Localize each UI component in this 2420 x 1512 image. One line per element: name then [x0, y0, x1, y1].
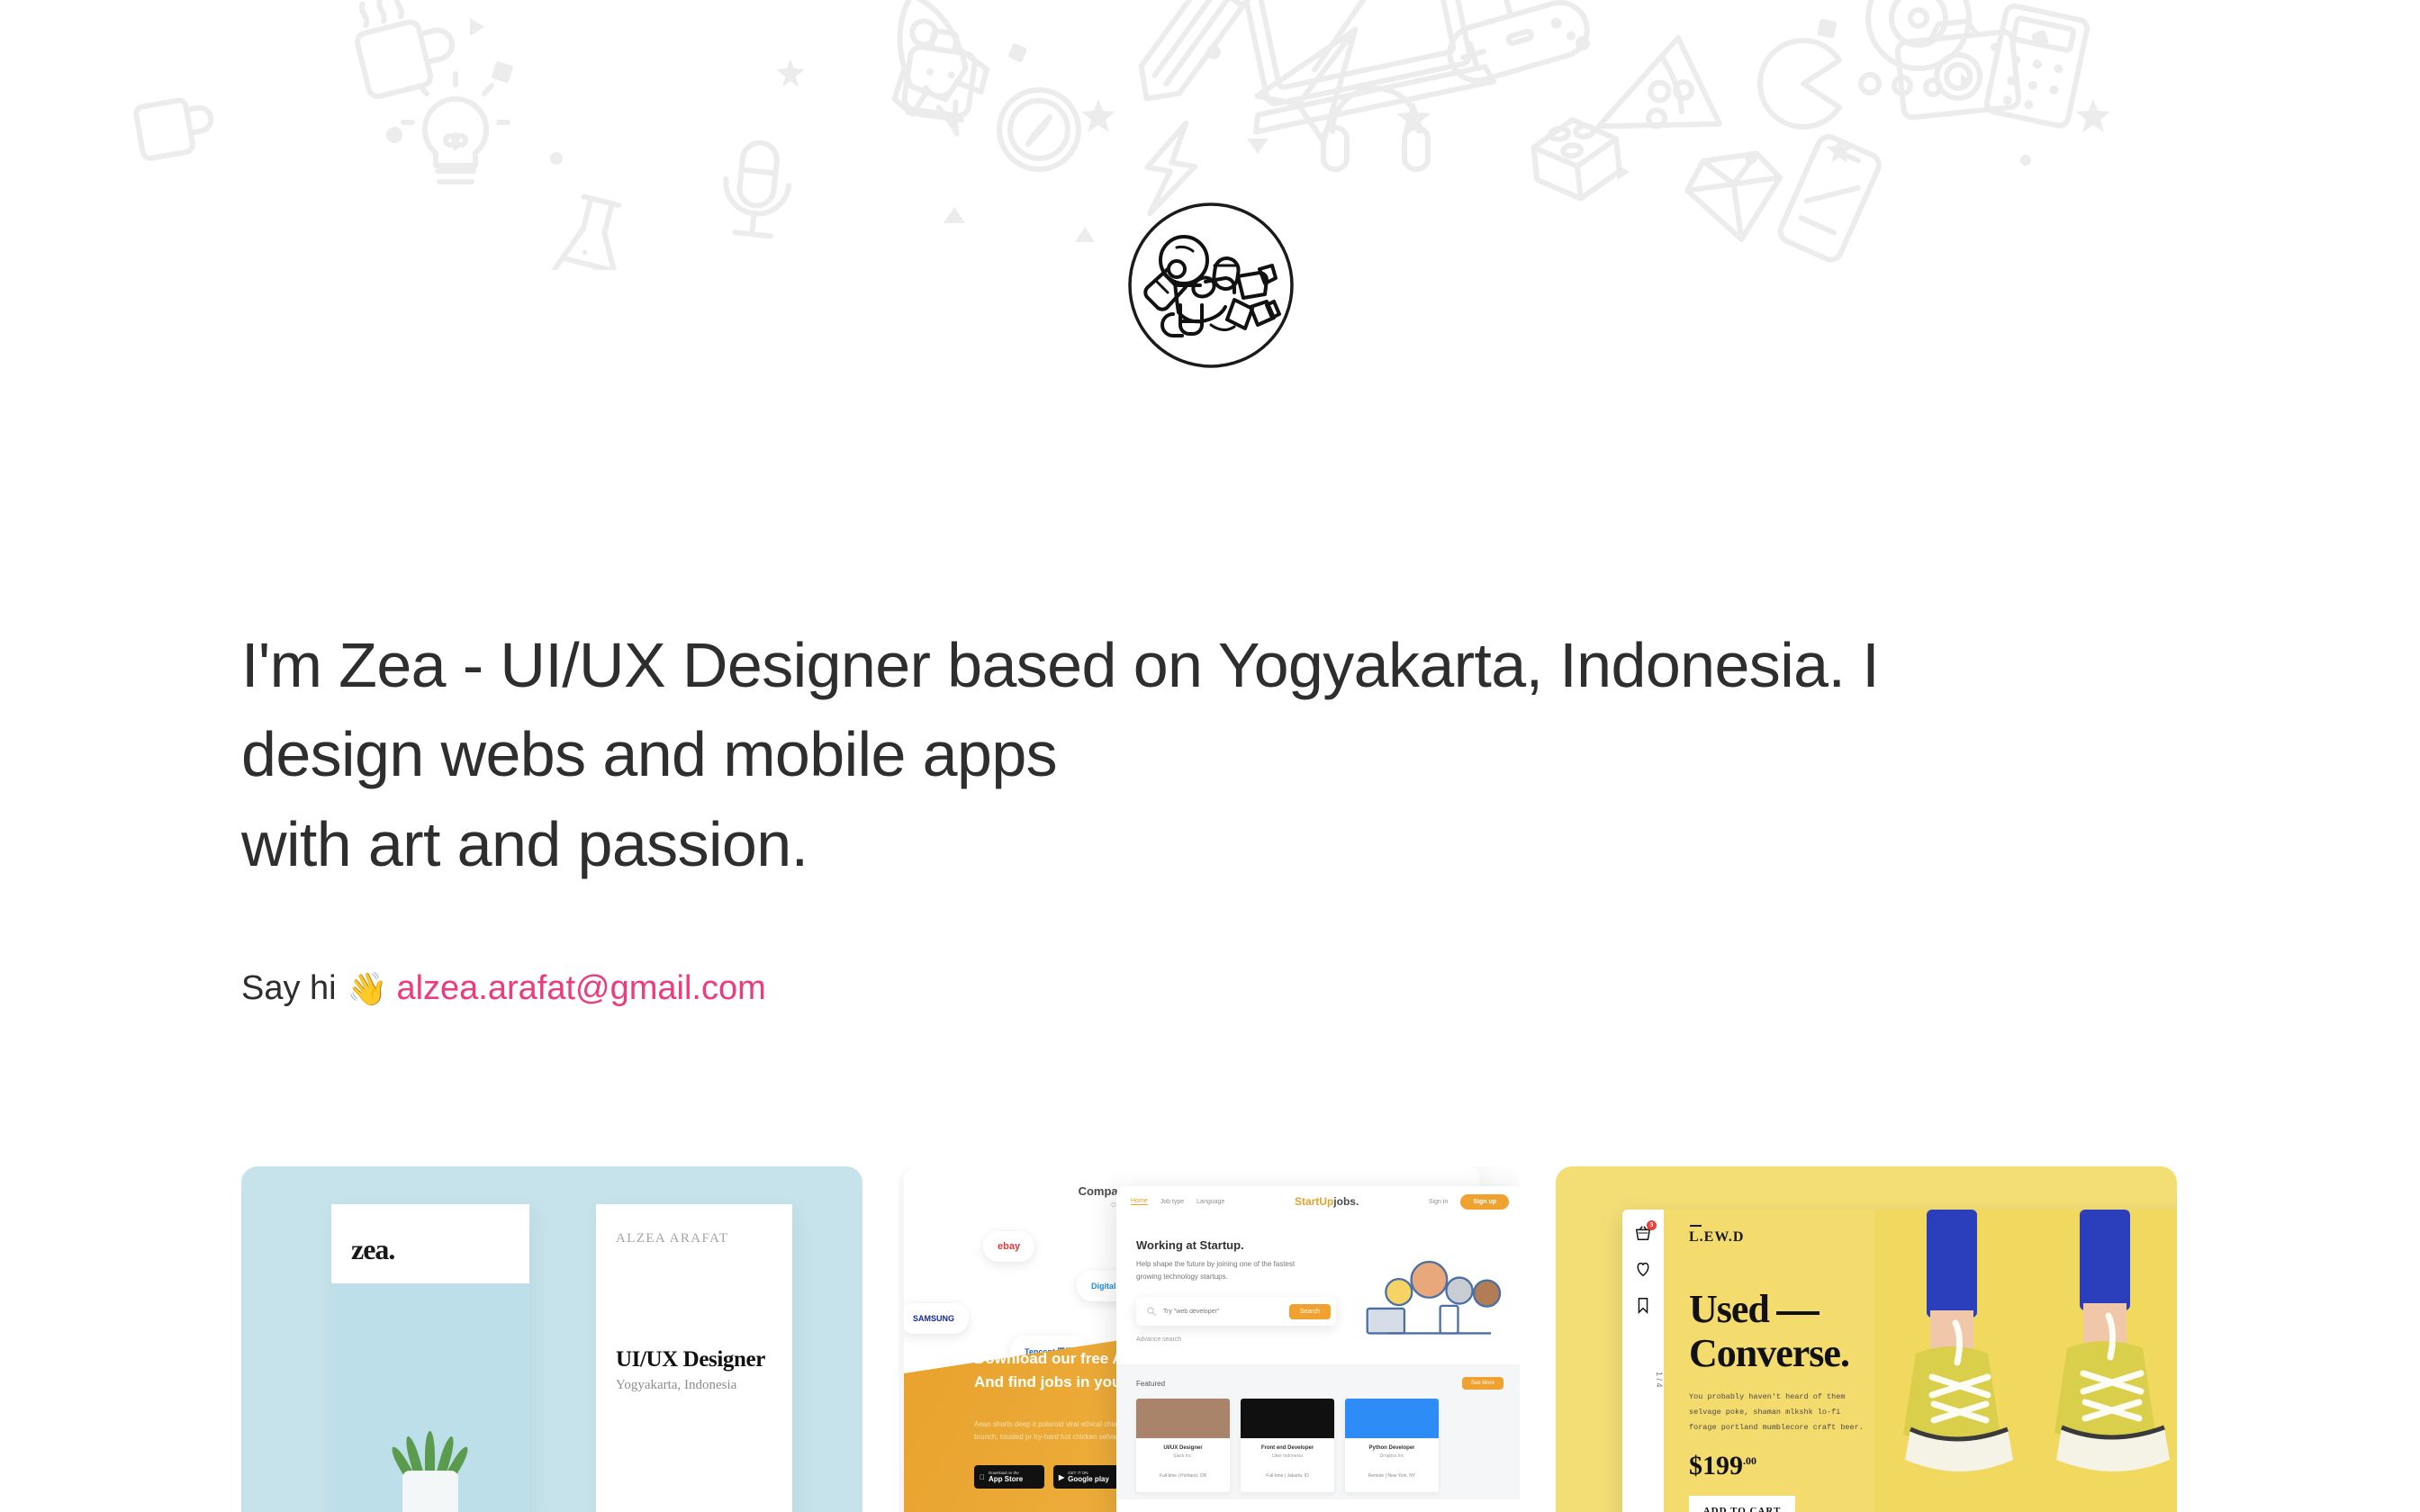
- job-card[interactable]: Front end Developer Uber Indonesia Full-…: [1241, 1399, 1334, 1492]
- job-card[interactable]: UI/UX Designer Slack Inc. Full-time | Po…: [1136, 1399, 1230, 1492]
- branding-project-card[interactable]: zea. ALZEA ARAFAT: [241, 1166, 862, 1512]
- star-icon: [776, 58, 805, 87]
- dot-icon: [550, 152, 563, 165]
- store-badge-group:  Download on the App Store ▶ GET IT ON …: [974, 1465, 1124, 1489]
- price-cents: .00: [1743, 1454, 1756, 1467]
- product-description: You probably haven't heard of them selva…: [1689, 1390, 1869, 1435]
- product-title-word1: Used: [1689, 1287, 1769, 1331]
- triangle-icon: [1961, 74, 1973, 90]
- paper-plane-icon: [1251, 30, 1367, 148]
- dot-icon: [1576, 36, 1590, 50]
- job-meta: Full-time | Jakarta, ID: [1241, 1473, 1334, 1479]
- smartphone-icon: [1777, 133, 1883, 263]
- job-search-input[interactable]: [1163, 1309, 1282, 1315]
- app-store-badge[interactable]:  Download on the App Store: [974, 1465, 1044, 1489]
- featured-label: Featured: [1136, 1380, 1165, 1388]
- rocket-icon: [865, 0, 1003, 148]
- site-navbar: Home Job type Language StartUpjobs. Sign…: [1116, 1186, 1520, 1217]
- play-icon: ▶: [1059, 1473, 1064, 1481]
- pacman-icon: [1760, 40, 1940, 127]
- dot-icon: [386, 127, 402, 143]
- plant-pot: [402, 1471, 458, 1512]
- dot-icon: [1745, 151, 1757, 164]
- microphone-icon: [720, 139, 792, 238]
- portfolio-page: I'm Zea - UI/UX Designer based on Yogyak…: [0, 0, 2420, 1512]
- vinyl-record-icon: [1868, 0, 1969, 68]
- business-card-role: UI/UX Designer: [616, 1347, 772, 1372]
- contact-prefix: Say hi: [241, 967, 337, 1011]
- site-hero-body: Help shape the future by joining one of …: [1136, 1258, 1316, 1282]
- google-play-badge-pre: GET IT ON: [1068, 1471, 1109, 1475]
- job-title: Python Developer: [1345, 1445, 1439, 1451]
- add-to-cart-button[interactable]: ADD TO CART: [1689, 1496, 1795, 1512]
- bookmark-icon[interactable]: [1634, 1296, 1652, 1314]
- sign-up-button[interactable]: Sign up: [1460, 1194, 1509, 1210]
- job-search-bar[interactable]: Search: [1136, 1297, 1336, 1326]
- shop-page-mockup: 3 1 / 4 L.E: [1622, 1210, 2177, 1512]
- business-card-location: Yogyakarta, Indonesia: [616, 1378, 772, 1393]
- site-brand-part-a: StartUp: [1295, 1195, 1333, 1208]
- square-icon: [1007, 42, 1027, 62]
- job-company: Dropbox Inc: [1345, 1453, 1439, 1459]
- zea-wordmark: zea.: [351, 1233, 394, 1266]
- featured-jobs-section: Featured See More UI/UX Designer Slack I…: [1116, 1364, 1520, 1499]
- jobs-platform-project-card[interactable]: Companies we are helped in hiring talent…: [898, 1166, 1520, 1512]
- ecommerce-project-card[interactable]: 3 1 / 4 L.E: [1556, 1166, 2177, 1512]
- featured-job-row: UI/UX Designer Slack Inc. Full-time | Po…: [1136, 1399, 1503, 1492]
- dot-icon: [1206, 45, 1221, 59]
- business-card-mockup: ALZEA ARAFAT UI/UX Designer Yogyakarta, …: [596, 1204, 792, 1512]
- job-thumbnail: [1136, 1399, 1230, 1438]
- diamond-icon: [1684, 151, 1788, 247]
- project-card-list: zea. ALZEA ARAFAT: [241, 1166, 2179, 1512]
- pizza-icon: [1599, 27, 1733, 147]
- calculator-icon: [1985, 4, 2089, 128]
- succulent-plant-icon: [389, 1418, 472, 1512]
- lego-head-icon: [902, 28, 978, 121]
- title-dash: [1776, 1311, 1820, 1315]
- nav-item-job-type[interactable]: Job type: [1160, 1199, 1184, 1205]
- lego-brick-icon: [1531, 115, 1622, 202]
- job-search-button[interactable]: Search: [1289, 1304, 1331, 1319]
- dot-icon: [2020, 155, 2031, 166]
- shop-pager: 1 / 4: [1622, 1372, 1664, 1388]
- hero-title-line-2: with art and passion.: [241, 800, 2033, 889]
- contact-line: Say hi 👋 alzea.arafat@gmail.com: [241, 967, 2132, 1011]
- job-meta: Remote | New York, NY: [1345, 1473, 1439, 1479]
- team-illustration: [1358, 1255, 1509, 1345]
- brand-logo-mockup: zea.: [331, 1204, 529, 1512]
- apple-icon: : [980, 1473, 985, 1481]
- coffee-mug-icon: [135, 95, 216, 159]
- featured-header: Featured See More: [1136, 1377, 1503, 1390]
- square-icon: [2031, 30, 2050, 49]
- gamepad-icon: [1434, 0, 1594, 87]
- headphones-icon: [1323, 88, 1428, 169]
- star-icon: [1081, 99, 1115, 132]
- star-icon: [2076, 99, 2110, 132]
- company-logo-samsung: SAMSUNG: [904, 1303, 969, 1334]
- shop-pager-label: 1 / 4: [1655, 1372, 1664, 1388]
- sign-in-link[interactable]: Sign in: [1429, 1199, 1448, 1205]
- triangle-icon: [1075, 227, 1095, 242]
- star-icon: [1396, 101, 1431, 134]
- job-card[interactable]: Python Developer Dropbox Inc Remote | Ne…: [1345, 1399, 1439, 1492]
- shop-brand-logo: L.EW.D: [1689, 1229, 1744, 1246]
- coffee-mug-icon: [348, 0, 460, 98]
- lightbulb-icon: [403, 74, 508, 182]
- site-hero-title: Working at Startup.: [1136, 1238, 1503, 1252]
- job-title: Front end Developer: [1241, 1445, 1334, 1451]
- google-play-badge-main: Google play: [1068, 1475, 1109, 1483]
- heart-icon[interactable]: [1634, 1260, 1652, 1278]
- square-icon: [491, 60, 513, 83]
- laptop-icon: [1224, 0, 1494, 132]
- triangle-icon: [944, 207, 965, 223]
- google-play-badge[interactable]: ▶ GET IT ON Google play: [1053, 1465, 1124, 1489]
- astronaut-logo[interactable]: [1124, 199, 1297, 372]
- star-icon: [1826, 137, 1853, 163]
- nav-item-language[interactable]: Language: [1196, 1199, 1224, 1205]
- plant-photo: [331, 1283, 529, 1512]
- search-icon: [1147, 1307, 1156, 1316]
- nav-item-home[interactable]: Home: [1131, 1198, 1148, 1205]
- job-thumbnail: [1241, 1399, 1334, 1438]
- pencil-icon: [1127, 0, 1253, 112]
- site-brand-logo: StartUpjobs.: [1295, 1195, 1359, 1208]
- job-title: UI/UX Designer: [1136, 1445, 1230, 1451]
- see-more-button[interactable]: See More: [1462, 1377, 1503, 1390]
- company-logo-ebay: ebay: [983, 1231, 1034, 1262]
- job-meta: Full-time | Portland, OR: [1136, 1473, 1230, 1479]
- triangle-icon: [470, 18, 484, 36]
- job-company: Slack Inc.: [1136, 1453, 1230, 1459]
- price-amount: $199: [1689, 1451, 1743, 1480]
- product-price: $199.00: [1689, 1451, 1756, 1481]
- compass-icon: [999, 90, 1079, 169]
- shop-side-rail: 3 1 / 4: [1622, 1210, 1664, 1512]
- flask-icon: [551, 193, 637, 270]
- site-brand-part-b: jobs.: [1333, 1195, 1359, 1208]
- job-thumbnail: [1345, 1399, 1439, 1438]
- email-link[interactable]: alzea.arafat@gmail.com: [396, 967, 765, 1011]
- startupjobs-site-mockup: Home Job type Language StartUpjobs. Sign…: [1116, 1186, 1520, 1512]
- business-card-name: ALZEA ARAFAT: [616, 1231, 772, 1246]
- app-store-badge-pre: Download on the: [989, 1471, 1023, 1475]
- product-photo: [1874, 1210, 2177, 1512]
- page-title: I'm Zea - UI/UX Designer based on Yogyak…: [241, 621, 2033, 889]
- waving-hand-icon: 👋: [348, 973, 388, 1005]
- latest-jobs-header: Latest Jobs Popular jobs: [1116, 1499, 1520, 1512]
- product-title-word2: Converse.: [1689, 1331, 1849, 1375]
- triangle-icon: [1617, 164, 1630, 180]
- basket-icon[interactable]: 3: [1634, 1224, 1652, 1242]
- site-hero: Working at Startup. Help shape the futur…: [1116, 1217, 1520, 1364]
- hero-title-line-1: I'm Zea - UI/UX Designer based on Yogyak…: [241, 630, 1879, 789]
- cart-count-badge: 3: [1647, 1220, 1657, 1230]
- job-company: Uber Indonesia: [1241, 1453, 1334, 1459]
- square-icon: [1817, 18, 1838, 39]
- hero-section: I'm Zea - UI/UX Designer based on Yogyak…: [241, 621, 2132, 1012]
- triangle-icon: [1247, 139, 1269, 154]
- camera-icon: [1895, 17, 2019, 119]
- app-store-badge-main: App Store: [989, 1475, 1023, 1483]
